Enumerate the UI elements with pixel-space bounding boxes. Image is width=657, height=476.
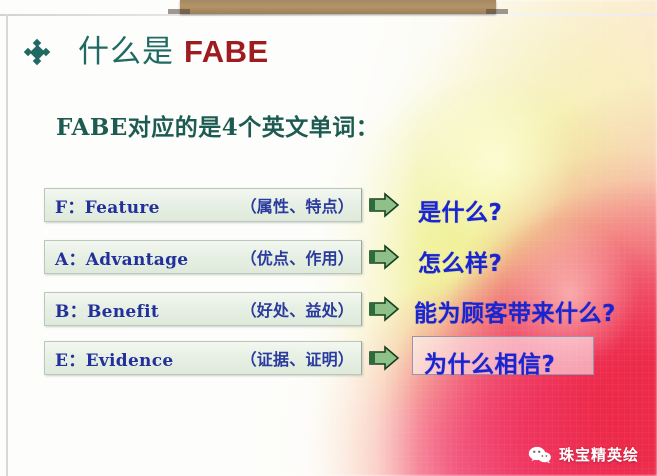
right-arrow-icon (368, 296, 400, 322)
term-translation-f: （属性、特点） (241, 193, 354, 217)
term-word-e: Evidence (86, 351, 174, 371)
slide-canvas: 什么是FABE FABE对应的是4个英文单词： F：Feature （属性、特点… (0, 0, 657, 476)
slide-left-edge (6, 14, 8, 476)
term-letter-f: F： (55, 198, 85, 218)
term-word-a: Advantage (86, 250, 189, 270)
fabe-row-b: B：Benefit （好处、益处） (44, 292, 400, 326)
term-word-f: Feature (85, 198, 160, 218)
term-word-b: Benefit (87, 302, 159, 322)
term-box-f: F：Feature （属性、特点） (44, 188, 362, 222)
term-letter-e: E： (55, 351, 86, 371)
subtitle-text: FABE对应的是4个英文单词： (56, 108, 379, 142)
term-letter-a: A： (55, 250, 86, 270)
answer-text-b: 能为顾客带来什么? (414, 294, 616, 328)
term-label-b: B：Benefit (55, 297, 159, 322)
watermark: 珠宝精英绘 (528, 444, 639, 465)
term-letter-b: B： (55, 302, 87, 322)
answer-text-f: 是什么? (418, 193, 502, 227)
fabe-row-a: A：Advantage （优点、作用） (44, 240, 400, 274)
term-label-a: A：Advantage (55, 245, 188, 270)
diamond-bullet-icon (26, 41, 48, 63)
term-box-a: A：Advantage （优点、作用） (44, 240, 362, 274)
right-arrow-icon (368, 192, 400, 218)
term-translation-b: （好处、益处） (241, 297, 354, 321)
title-english: FABE (184, 34, 269, 69)
term-label-e: E：Evidence (55, 346, 174, 371)
fabe-row-f: F：Feature （属性、特点） (44, 188, 400, 222)
slide-top-edge (0, 14, 657, 16)
term-translation-e: （证据、证明） (241, 346, 354, 370)
watermark-text: 珠宝精英绘 (559, 444, 639, 465)
top-brown-bar (180, 0, 496, 14)
term-label-f: F：Feature (55, 193, 160, 218)
page-title: 什么是FABE (26, 36, 269, 68)
term-translation-a: （优点、作用） (241, 245, 354, 269)
title-chinese: 什么是 (78, 34, 174, 70)
fabe-row-e: E：Evidence （证据、证明） (44, 341, 400, 375)
right-arrow-icon (368, 244, 400, 270)
answer-text-a: 怎么样? (418, 244, 502, 278)
right-arrow-icon (368, 345, 400, 371)
term-box-e: E：Evidence （证据、证明） (44, 341, 362, 375)
term-box-b: B：Benefit （好处、益处） (44, 292, 362, 326)
wechat-icon (528, 445, 552, 465)
answer-text-e: 为什么相信? (424, 345, 555, 379)
